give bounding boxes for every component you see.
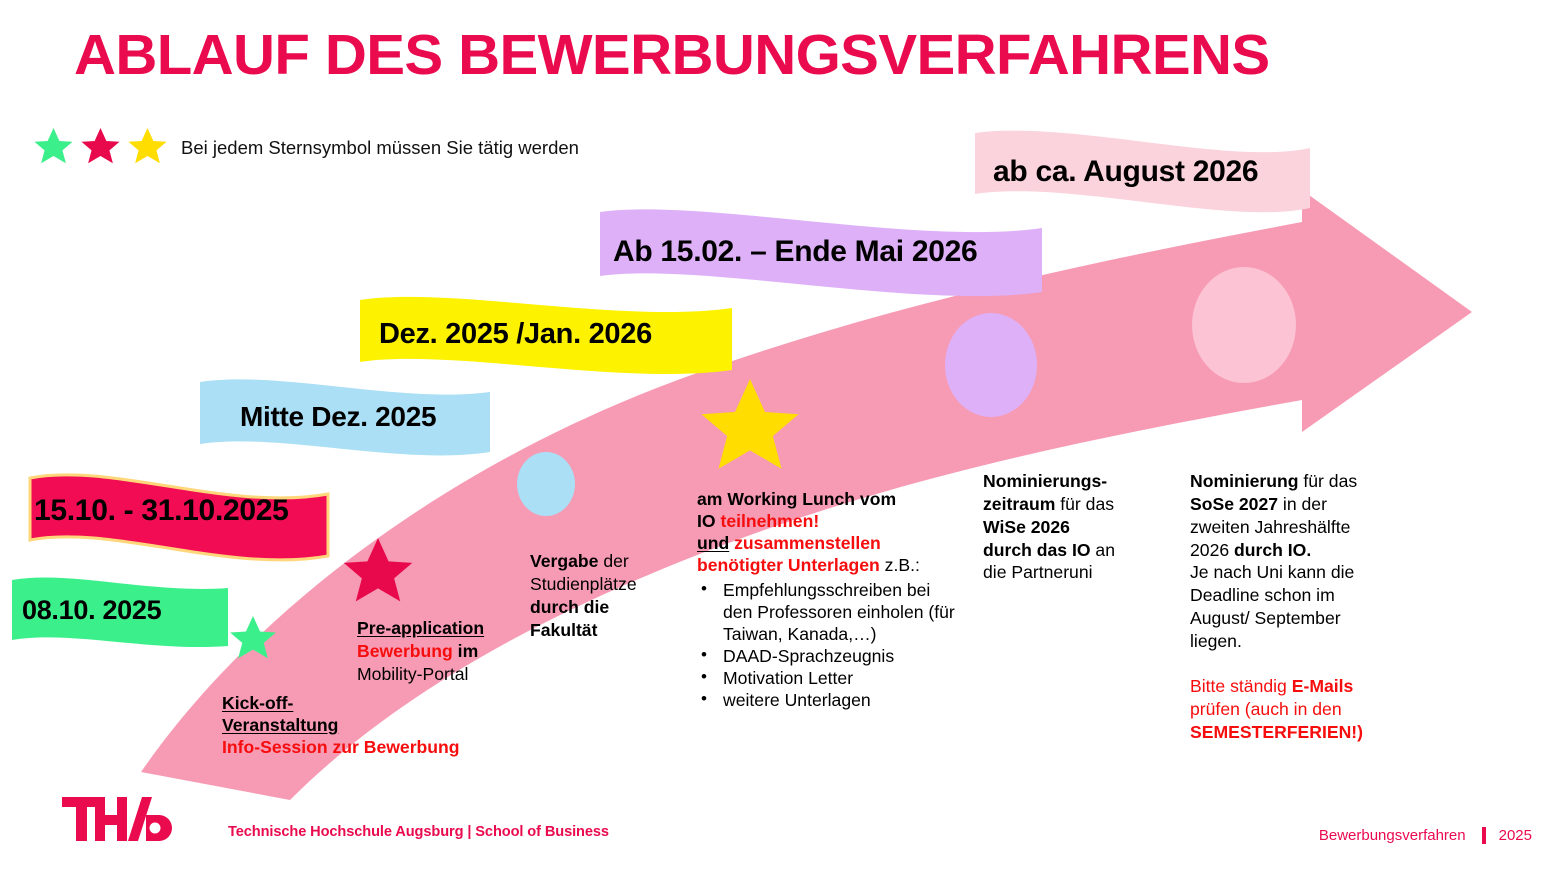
list-item: Motivation Letter: [697, 667, 959, 689]
preapp-line2-red: Bewerbung: [357, 641, 453, 661]
vergabe-line4: Fakultät: [530, 620, 597, 640]
footer-institution: Technische Hochschule Augsburg | School …: [228, 824, 609, 840]
wl-line4-red: benötigter Unterlagen: [697, 555, 880, 575]
step-preapplication: Pre-application Bewerbung im Mobility-Po…: [357, 617, 557, 686]
wl-line1: am Working Lunch vom: [697, 489, 896, 509]
step-working-lunch: am Working Lunch vom IO teilnehmen! und …: [697, 488, 959, 712]
ns-t1: für das: [1299, 471, 1358, 491]
ns-t3: zweiten Jahreshälfte: [1190, 517, 1350, 537]
ns-t6: Deadline schon im: [1190, 585, 1335, 605]
step-kickoff: Kick-off- Veranstaltung Info-Session zur…: [222, 692, 552, 758]
star-legend: Bei jedem Sternsymbol müssen Sie tätig w…: [30, 126, 579, 170]
wl-line3-und: und: [697, 533, 729, 553]
ns-warn3: SEMESTERFERIEN!): [1190, 722, 1363, 742]
step-nominierungszeitraum: Nominierungs- zeitraum für das WiSe 2026…: [983, 470, 1158, 584]
ns-t7: August/ September: [1190, 608, 1341, 628]
step-vergabe: Vergabe der Studienplätze durch die Faku…: [530, 550, 700, 641]
banner-text: ab ca. August 2026: [993, 155, 1258, 189]
nz-b3: WiSe 2026: [983, 517, 1070, 537]
ns-t5: Je nach Uni kann die: [1190, 562, 1354, 582]
ns-b1: Nominierung: [1190, 471, 1299, 491]
kickoff-line3: Info-Session zur Bewerbung: [222, 737, 460, 757]
ns-b3: durch IO.: [1234, 540, 1311, 560]
page-title: ABLAUF DES BEWERBUNGSVERFAHRENS: [74, 22, 1270, 88]
crimson-star-marker: [344, 538, 413, 601]
list-item: Empfehlungsschreiben bei den Professoren…: [697, 579, 959, 645]
nz-t2: an: [1091, 540, 1115, 560]
nz-t3: die Partneruni: [983, 562, 1093, 582]
footer-meta: Bewerbungsverfahren 2025: [1319, 827, 1532, 844]
kickoff-line2: Veranstaltung: [222, 715, 338, 735]
wl-line2-red: teilnehmen!: [720, 511, 819, 531]
ns-t4: 2026: [1190, 540, 1234, 560]
infographic-poster: ABLAUF DES BEWERBUNGSVERFAHRENS Bei jede…: [0, 0, 1558, 887]
lightpink-circle-marker: [1192, 267, 1296, 383]
step-nominierung-sose: Nominierung für das SoSe 2027 in der zwe…: [1190, 470, 1420, 743]
yellow-star-marker: [701, 379, 798, 469]
preapp-line2-rest: im: [453, 641, 478, 661]
vergabe-rest: der: [598, 551, 628, 571]
green-star-icon: [30, 126, 77, 170]
vergabe-bold: Vergabe: [530, 551, 598, 571]
blue-circle-marker: [517, 452, 575, 516]
ns-t2: in der: [1278, 494, 1327, 514]
wl-line4-rest: z.B.:: [880, 555, 920, 575]
nz-b2: zeitraum: [983, 494, 1055, 514]
footer-year: 2025: [1499, 827, 1532, 844]
footer-separator-bar: [1482, 827, 1486, 844]
vergabe-line3: durch die: [530, 597, 609, 617]
ns-warn1: Bitte ständig: [1190, 676, 1292, 696]
banner-text: Dez. 2025 /Jan. 2026: [379, 318, 652, 351]
vergabe-line2: Studienplätze: [530, 574, 637, 594]
kickoff-line1: Kick-off-: [222, 693, 293, 713]
tha-logo: [62, 795, 180, 847]
yellow-star-icon: [124, 126, 171, 170]
ns-warn2: prüfen (auch in den: [1190, 699, 1342, 719]
banner-text: 08.10. 2025: [22, 595, 161, 626]
nz-b1: Nominierungs-: [983, 471, 1107, 491]
ns-warn1-b: E-Mails: [1292, 676, 1354, 696]
list-item: DAAD-Sprachzeugnis: [697, 645, 959, 667]
wl-line2-io: IO: [697, 511, 720, 531]
legend-label: Bei jedem Sternsymbol müssen Sie tätig w…: [181, 137, 579, 159]
banner-text: Ab 15.02. – Ende Mai 2026: [613, 235, 977, 269]
preapp-line3: Mobility-Portal: [357, 664, 468, 684]
green-star-marker: [230, 616, 276, 658]
purple-circle-marker: [945, 313, 1037, 417]
preapp-line1: Pre-application: [357, 618, 484, 638]
nz-t1: für das: [1055, 494, 1114, 514]
list-item: weitere Unterlagen: [697, 689, 959, 711]
ns-t8: liegen.: [1190, 631, 1242, 651]
nz-b4: durch das IO: [983, 540, 1091, 560]
wl-line3-red: zusammenstellen: [729, 533, 881, 553]
footer-doc-label: Bewerbungsverfahren: [1319, 827, 1466, 844]
wl-bullet-list: Empfehlungsschreiben bei den Professoren…: [697, 579, 959, 712]
banner-text: Mitte Dez. 2025: [240, 401, 436, 433]
banner-text: 15.10. - 31.10.2025: [34, 494, 289, 528]
crimson-star-icon: [77, 126, 124, 170]
ns-b2: SoSe 2027: [1190, 494, 1278, 514]
